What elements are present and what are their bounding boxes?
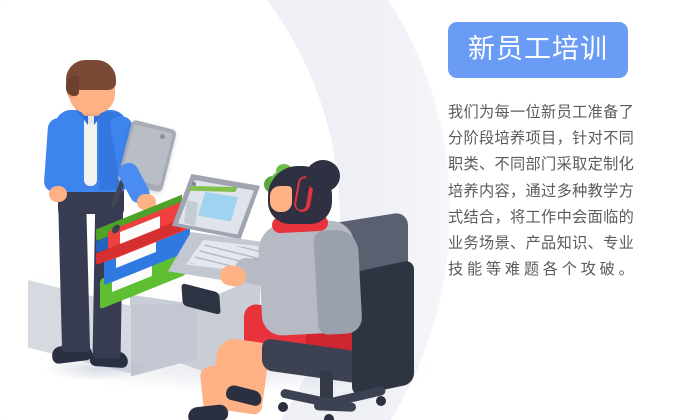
woman-face — [270, 186, 292, 212]
woman-hair-bun — [306, 160, 340, 192]
laptop-camera-icon — [192, 182, 196, 186]
page-title: 新员工培训 — [448, 22, 628, 78]
training-banner: 新员工培训 我们为每一位新员工准备了分阶段培养项目，针对不同职类、不同部门采取定… — [0, 0, 699, 420]
phone-body — [181, 283, 220, 315]
chair-backrest-shadow — [352, 259, 414, 396]
chair-leg-3 — [314, 401, 356, 411]
chair-caster-3 — [324, 414, 334, 420]
woman-sweater-shadow — [313, 229, 362, 335]
smartphone-on-desk — [182, 288, 228, 322]
man-left-hand — [49, 186, 67, 202]
man-left-leg — [58, 190, 90, 353]
seated-woman — [228, 170, 438, 416]
body-paragraph: 我们为每一位新员工准备了分阶段培养项目，针对不同职类、不同部门采取定制化培养内容… — [448, 100, 634, 283]
text-panel: 新员工培训 我们为每一位新员工准备了分阶段培养项目，针对不同职类、不同部门采取定… — [448, 22, 648, 283]
chair-base — [280, 388, 388, 414]
man-hair-sideburn — [66, 76, 79, 96]
chair-caster-1 — [278, 402, 288, 412]
chair-caster-2 — [376, 396, 386, 406]
man-tie — [84, 118, 97, 186]
